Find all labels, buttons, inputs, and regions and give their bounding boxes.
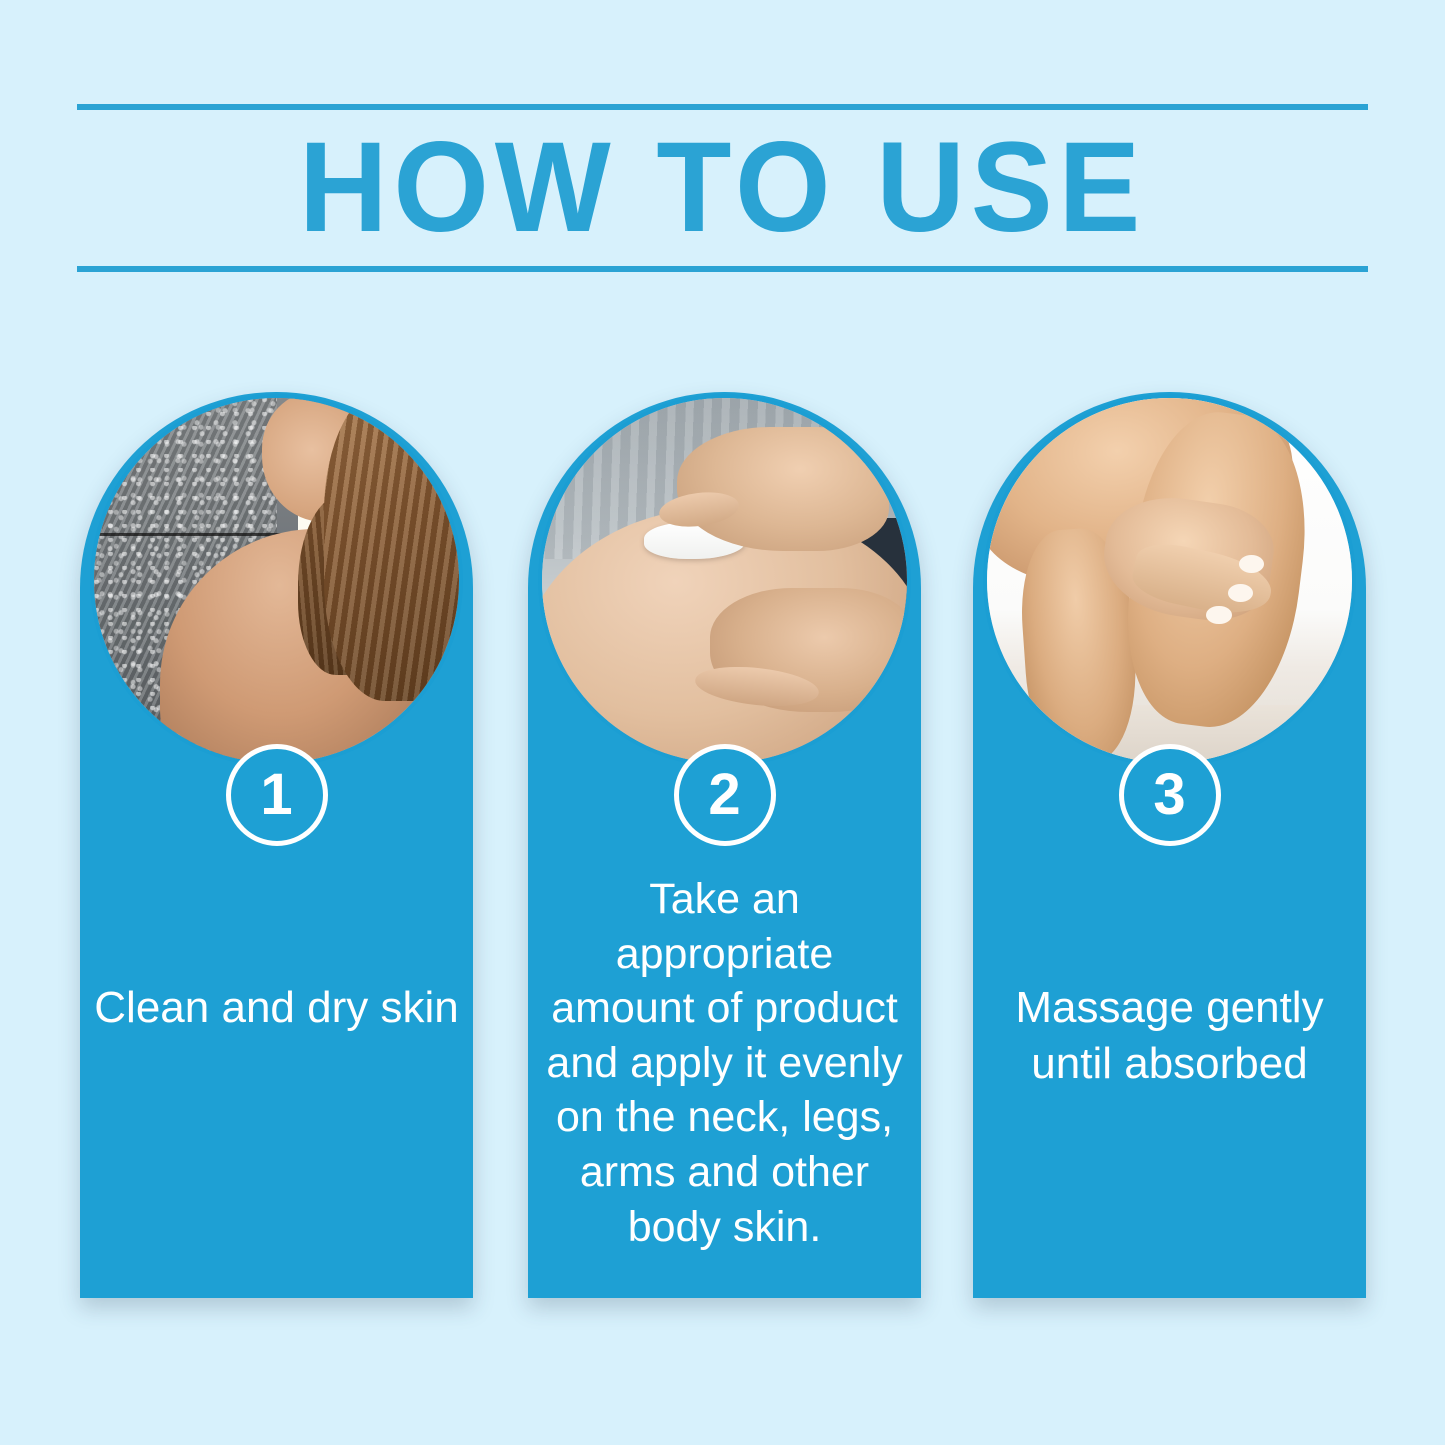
step-card-1: 1 Clean and dry skin bbox=[80, 392, 473, 1298]
step-2-caption: Take an appropriate amount of product an… bbox=[542, 872, 907, 1254]
applying-cream-image bbox=[542, 398, 907, 763]
title-rule-bottom bbox=[77, 266, 1368, 272]
step-card-3: 3 Massage gently until absorbed bbox=[973, 392, 1366, 1298]
header: HOW TO USE bbox=[77, 104, 1368, 272]
step-card-2: 2 Take an appropriate amount of product … bbox=[528, 392, 921, 1298]
woman-in-shower-image bbox=[94, 398, 459, 763]
step-3-photo bbox=[983, 394, 1356, 767]
step-2-photo bbox=[538, 394, 911, 767]
step-1-photo bbox=[90, 394, 463, 767]
step-1-number-badge: 1 bbox=[226, 744, 328, 846]
step-2-number-badge: 2 bbox=[674, 744, 776, 846]
step-1-caption: Clean and dry skin bbox=[94, 980, 459, 1036]
steps-row: 1 Clean and dry skin 2 Take an appropria… bbox=[80, 392, 1365, 1302]
massaging-legs-image bbox=[987, 398, 1352, 763]
step-3-caption: Massage gently until absorbed bbox=[987, 980, 1352, 1092]
step-3-number-badge: 3 bbox=[1119, 744, 1221, 846]
page-title: HOW TO USE bbox=[103, 104, 1342, 272]
